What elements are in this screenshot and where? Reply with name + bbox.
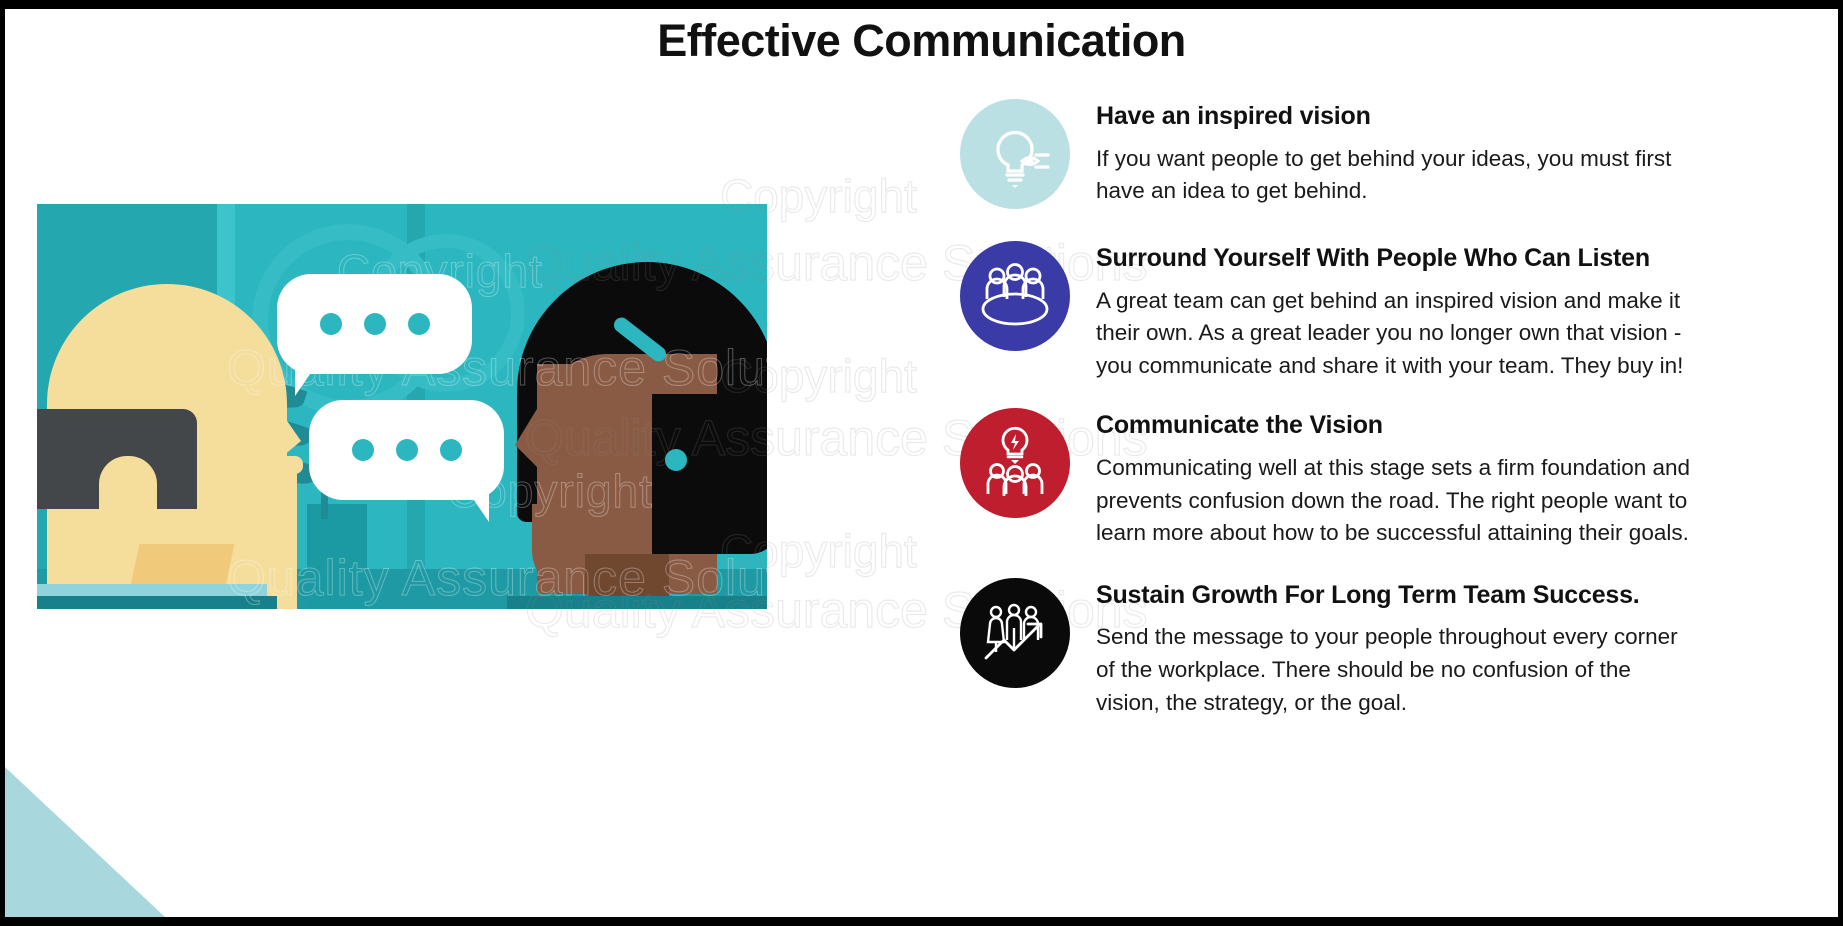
bubble-dot <box>408 313 430 335</box>
left-person-body <box>37 596 277 609</box>
list-item-body: Communicating well at this stage sets a … <box>1096 452 1696 550</box>
list-item-texts: Communicate the Vision Communicating wel… <box>1096 408 1820 549</box>
right-person-earring <box>665 449 687 471</box>
lightbulb-idea-team-icon <box>960 408 1070 518</box>
bubble-dot <box>364 313 386 335</box>
list-item-body: Send the message to your people througho… <box>1096 621 1696 719</box>
speech-bubble-tail <box>295 364 317 396</box>
speech-bubble-bottom <box>309 400 504 500</box>
list-item-texts: Sustain Growth For Long Term Team Succes… <box>1096 578 1820 719</box>
bubble-dot <box>320 313 342 335</box>
bubble-dot <box>396 439 418 461</box>
list-item-texts: Surround Yourself With People Who Can Li… <box>1096 241 1820 382</box>
right-person-body <box>507 596 767 609</box>
list-item-texts: Have an inspired vision If you want peop… <box>1096 99 1820 208</box>
list-item-body: If you want people to get behind your id… <box>1096 143 1696 208</box>
plant-pot <box>307 504 367 609</box>
bubble-dot <box>440 439 462 461</box>
left-person-lip <box>273 456 303 474</box>
list-item-title: Communicate the Vision <box>1096 412 1820 440</box>
left-person-cheek <box>99 456 157 516</box>
slide-canvas: Effective Communication <box>0 0 1843 926</box>
list-item-body: A great team can get behind an inspired … <box>1096 285 1696 383</box>
lightbulb-vision-icon <box>960 99 1070 209</box>
page-title: Effective Communication <box>5 15 1838 67</box>
speech-bubble-top <box>277 274 472 374</box>
right-person-nose <box>515 399 543 473</box>
list-item: Communicate the Vision Communicating wel… <box>960 408 1820 549</box>
conversation-illustration: Copyright Quality Assurance Solutions Co… <box>37 204 767 609</box>
list-item: Sustain Growth For Long Term Team Succes… <box>960 578 1820 719</box>
feature-list: Have an inspired vision If you want peop… <box>960 99 1820 737</box>
list-item-title: Have an inspired vision <box>1096 103 1820 131</box>
list-item-title: Sustain Growth For Long Term Team Succes… <box>1096 582 1820 610</box>
bubble-dot <box>352 439 374 461</box>
corner-triangle-decoration <box>5 767 165 917</box>
list-item: Have an inspired vision If you want peop… <box>960 99 1820 209</box>
people-around-table-icon <box>960 241 1070 351</box>
right-person-hair-side <box>652 394 767 554</box>
list-item-title: Surround Yourself With People Who Can Li… <box>1096 245 1820 273</box>
list-item: Surround Yourself With People Who Can Li… <box>960 241 1820 382</box>
speech-bubble-tail <box>467 490 489 522</box>
team-growth-arrow-icon <box>960 578 1070 688</box>
